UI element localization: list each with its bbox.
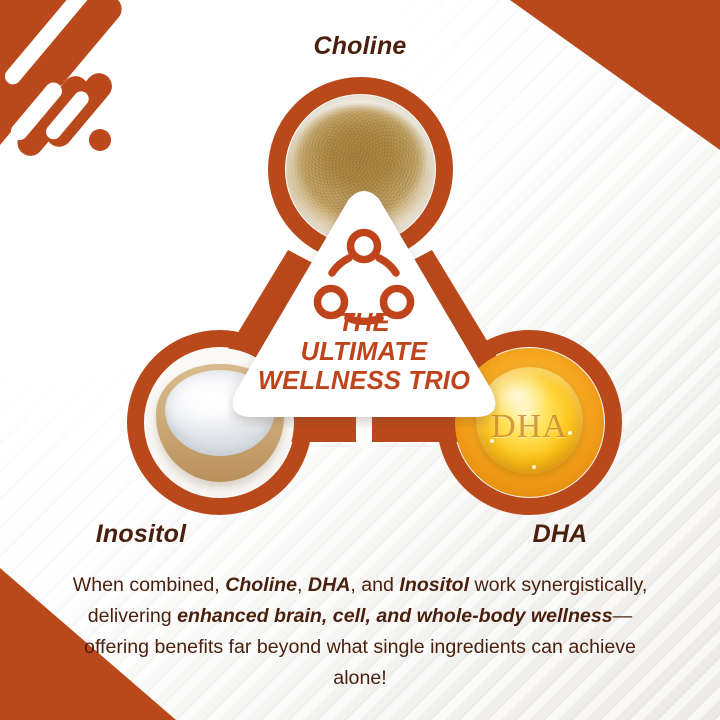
- paragraph-segment-2: ,: [297, 574, 308, 596]
- paragraph-segment-3: DHA: [308, 574, 350, 596]
- infographic-canvas: DHA THE ULTIMATE: [0, 0, 720, 720]
- paragraph-segment-1: Choline: [225, 574, 297, 596]
- badge-text-block: THE ULTIMATE WELLNESS TRIO: [228, 309, 500, 396]
- badge-line-1: THE: [228, 309, 500, 338]
- badge-line-3: WELLNESS TRIO: [228, 367, 500, 396]
- dha-sparkle-icon: [490, 439, 494, 443]
- badge-line-2: ULTIMATE: [228, 338, 500, 367]
- paragraph-segment-5: Inositol: [399, 574, 469, 596]
- summary-paragraph: When combined, Choline, DHA, and Inosito…: [56, 570, 664, 694]
- paragraph-segment-0: When combined,: [73, 574, 225, 596]
- paragraph-segment-4: , and: [350, 574, 399, 596]
- dha-sparkle-icon: [532, 465, 536, 469]
- choline-label: Choline: [0, 32, 720, 61]
- dha-label: DHA: [470, 520, 650, 549]
- inositol-label: Inositol: [36, 520, 246, 549]
- paragraph-segment-7: enhanced brain, cell, and whole-body wel…: [177, 605, 613, 627]
- dha-sparkle-icon: [568, 431, 572, 435]
- wellness-trio-badge: THE ULTIMATE WELLNESS TRIO: [228, 185, 500, 428]
